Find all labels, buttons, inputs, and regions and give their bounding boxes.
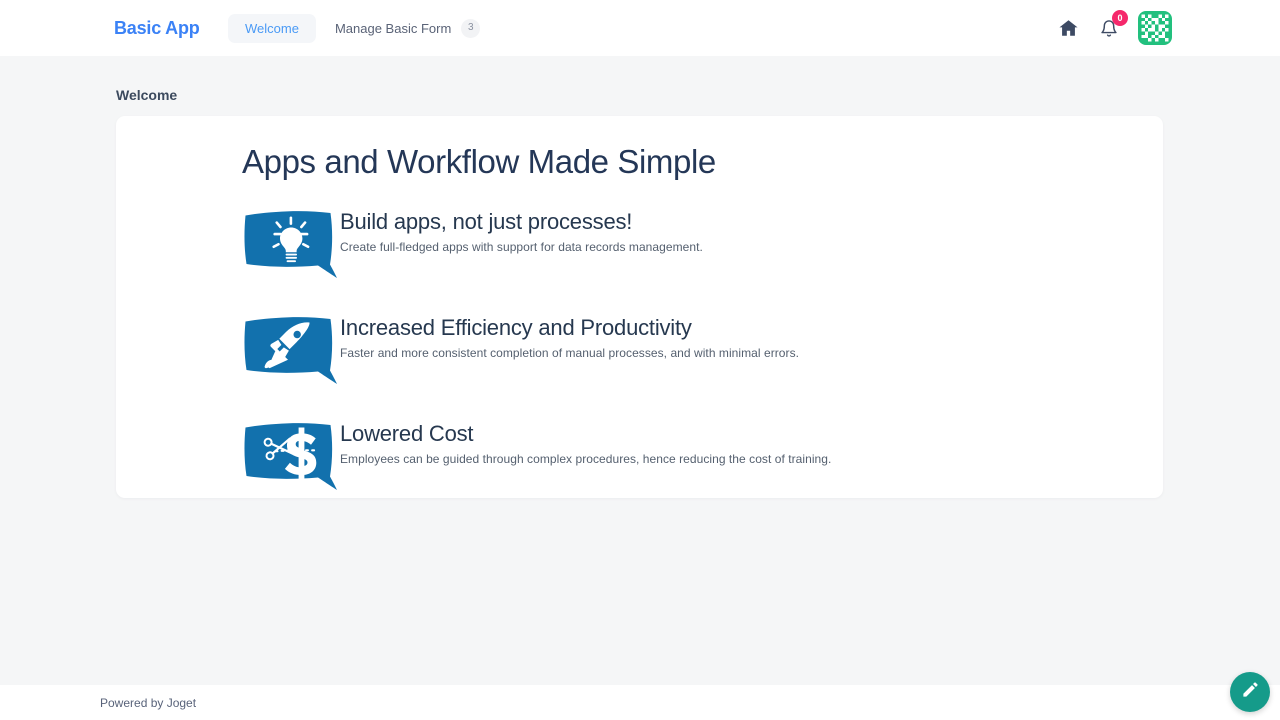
edit-fab-button[interactable] bbox=[1230, 672, 1270, 712]
feature-description: Employees can be guided through complex … bbox=[340, 452, 831, 466]
avatar[interactable] bbox=[1138, 11, 1172, 45]
welcome-headline: Apps and Workflow Made Simple bbox=[242, 143, 1163, 181]
scissors-dollar-speech-bubble-icon bbox=[242, 417, 340, 491]
tab-welcome[interactable]: Welcome bbox=[228, 14, 316, 43]
pencil-icon bbox=[1241, 680, 1260, 704]
tab-manage-basic-form[interactable]: Manage Basic Form 3 bbox=[318, 12, 497, 45]
header-actions: 0 bbox=[1056, 11, 1172, 45]
notification-count-badge: 0 bbox=[1112, 10, 1128, 26]
feature-text: Increased Efficiency and Productivity Fa… bbox=[340, 311, 799, 360]
feature-text: Lowered Cost Employees can be guided thr… bbox=[340, 417, 831, 466]
feature-description: Faster and more consistent completion of… bbox=[340, 346, 799, 360]
main-navigation-tabs: Welcome Manage Basic Form 3 bbox=[228, 12, 497, 45]
rocket-speech-bubble-icon bbox=[242, 311, 340, 385]
page-body: Welcome Apps and Workflow Made Simple bbox=[0, 56, 1280, 685]
page-title: Welcome bbox=[116, 87, 177, 103]
feature-title: Lowered Cost bbox=[340, 421, 831, 447]
feature-item: Increased Efficiency and Productivity Fa… bbox=[242, 311, 1163, 385]
app-brand-title[interactable]: Basic App bbox=[114, 18, 200, 39]
welcome-content-card: Apps and Workflow Made Simple bbox=[116, 116, 1163, 498]
feature-text: Build apps, not just processes! Create f… bbox=[340, 205, 703, 254]
home-icon[interactable] bbox=[1056, 16, 1080, 40]
tab-manage-basic-form-label: Manage Basic Form bbox=[335, 21, 451, 36]
feature-title: Increased Efficiency and Productivity bbox=[340, 315, 799, 341]
feature-item: Build apps, not just processes! Create f… bbox=[242, 205, 1163, 279]
feature-list: Build apps, not just processes! Create f… bbox=[242, 205, 1163, 491]
powered-by-label: Powered by Joget bbox=[100, 696, 196, 710]
lightbulb-speech-bubble-icon bbox=[242, 205, 340, 279]
app-footer: Powered by Joget bbox=[0, 685, 1280, 720]
tab-welcome-label: Welcome bbox=[245, 21, 299, 36]
bell-icon[interactable]: 0 bbox=[1097, 16, 1121, 40]
feature-item: Lowered Cost Employees can be guided thr… bbox=[242, 417, 1163, 491]
feature-description: Create full-fledged apps with support fo… bbox=[340, 240, 703, 254]
tab-manage-basic-form-badge: 3 bbox=[461, 19, 480, 38]
app-header: Basic App Welcome Manage Basic Form 3 0 bbox=[0, 0, 1280, 56]
feature-title: Build apps, not just processes! bbox=[340, 209, 703, 235]
